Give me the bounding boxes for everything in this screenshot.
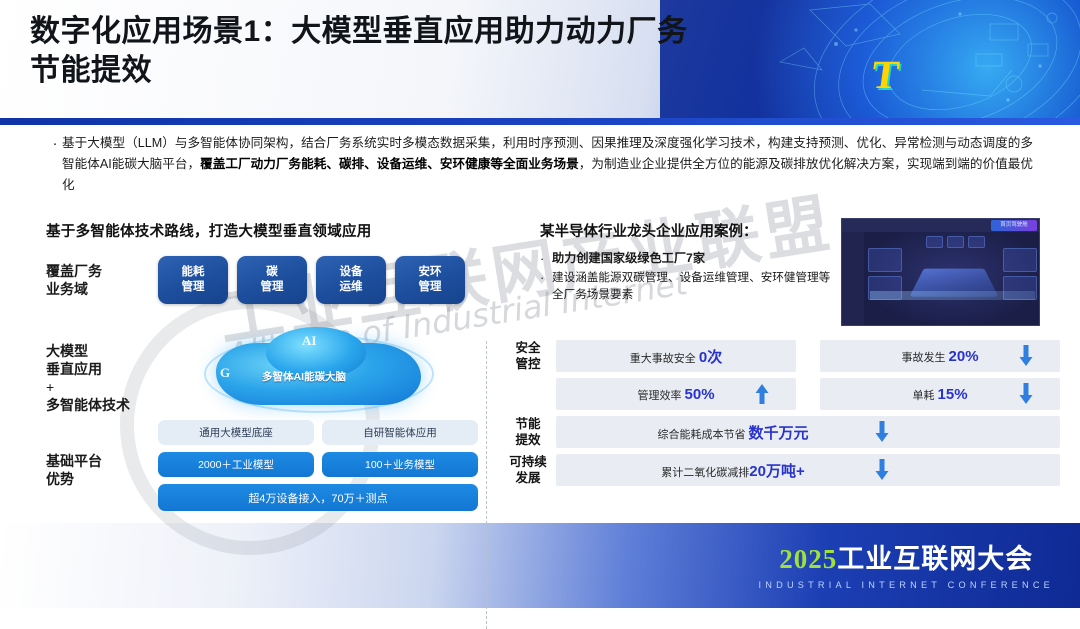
chip-carbon-management[interactable]: 碳 管理 — [237, 256, 307, 304]
brand-t-logo: T — [869, 52, 931, 98]
chip-equipment-l2: 运维 — [340, 281, 363, 293]
lead-bold-phrase: 覆盖工厂动力厂务能耗、碳排、设备运维、安环健康等全面业务场景 — [200, 157, 579, 171]
metric-caption: 管理效率 — [637, 390, 684, 402]
bar-general-llm-base[interactable]: 通用大模型底座 — [158, 420, 314, 445]
metric-cells: 重大事故安全 0次 事故发生 20% — [556, 340, 1060, 372]
metric-label-safety-l1: 安全 — [500, 340, 556, 356]
metric-row-sustainability: 可持续 发展 累计二氧化碳减排20万吨+ — [500, 454, 1060, 486]
chip-energy-management[interactable]: 能耗 管理 — [158, 256, 228, 304]
metric-text: 综合能耗成本节省 数千万元 — [657, 422, 808, 443]
ai-chip-icon: AI — [302, 333, 316, 349]
row-label-model-line2: 垂直应用 — [46, 360, 130, 378]
metric-value: 0次 — [699, 349, 722, 366]
cloud-brand-logo-icon: G — [220, 365, 230, 381]
metric-label-safety-l2: 管控 — [500, 356, 556, 372]
metric-cell-energy-cost-saving: 综合能耗成本节省 数千万元 — [556, 416, 1060, 448]
row-label-model-line4: 多智能体技术 — [46, 396, 130, 414]
metric-cells: 累计二氧化碳减排20万吨+ — [556, 454, 1060, 486]
metric-cells: 综合能耗成本节省 数千万元 — [556, 416, 1060, 448]
bar-industrial-models-count[interactable]: 2000＋工业模型 — [158, 452, 314, 477]
arrow-down-icon — [874, 421, 890, 443]
bullet-icon: · — [540, 269, 552, 303]
page-title: 数字化应用场景1：大模型垂直应用助力动力厂务节能提效 — [30, 12, 710, 90]
bar-row-1: 通用大模型底座 自研智能体应用 — [158, 420, 478, 445]
metric-row-label-energy-saving: 节能 提效 — [500, 416, 556, 448]
arrow-down-icon — [874, 459, 890, 481]
bullet-icon: · — [48, 133, 62, 196]
metric-row-label-safety: 安全 管控 — [500, 340, 556, 372]
header-tech-graphic: T — [660, 0, 1080, 118]
platform-capability-bars: 通用大模型底座 自研智能体应用 2000＋工业模型 100＋业务模型 超4万设备… — [158, 420, 478, 518]
row-label-model: 大模型 垂直应用 + 多智能体技术 — [46, 342, 130, 414]
row-label-model-plus: + — [46, 378, 130, 396]
dashboard-tab-label: 首页驾驶舱 — [991, 220, 1037, 231]
chip-carbon-l2: 管理 — [261, 281, 284, 293]
row-label-platform-line1: 基础平台 — [46, 452, 102, 470]
metric-text: 重大事故安全 0次 — [630, 346, 722, 367]
right-section-heading: 某半导体行业龙头企业应用案例： — [540, 220, 758, 241]
case-bullet-2: · 建设涵盖能源双碳管理、设备运维管理、安环健管理等全厂务场景要素 — [540, 269, 840, 303]
metric-row-energy-saving: 节能 提效 综合能耗成本节省 数千万元 — [500, 416, 1060, 448]
cloud-caption: 多智体AI能碳大脑 — [262, 369, 346, 384]
row-label-model-line1: 大模型 — [46, 342, 130, 360]
dashboard-canvas — [864, 232, 1040, 326]
dashboard-card — [968, 236, 985, 248]
slide-body: · 基于大模型（LLM）与多智能体协同架构，结合厂务系统实时多模态数据采集，利用… — [0, 125, 1080, 608]
domain-chip-group: 能耗 管理 碳 管理 设备 运维 安环 管理 — [158, 256, 478, 304]
right-panel: 某半导体行业龙头企业应用案例： · 助力创建国家级绿色工厂7家 · 建设涵盖能源… — [500, 220, 1060, 610]
case-bullet-list: · 助力创建国家级绿色工厂7家 · 建设涵盖能源双碳管理、设备运维管理、安环健管… — [540, 250, 840, 305]
metric-caption: 累计二氧化碳减排 — [661, 467, 749, 479]
metric-label-energy-l2: 提效 — [500, 432, 556, 448]
chip-energy-l1: 能耗 — [182, 266, 205, 278]
metric-row-label-sustainability: 可持续 发展 — [500, 454, 556, 486]
header-circuit-rings — [660, 0, 1080, 118]
chip-energy-l2: 管理 — [182, 281, 205, 293]
dashboard-screenshot[interactable]: 首页驾驶舱 — [841, 218, 1040, 326]
metric-cell-co2-reduction: 累计二氧化碳减排20万吨+ — [556, 454, 1060, 486]
chip-safety-l2: 管理 — [419, 281, 442, 293]
metric-cell-unit-consumption: 单耗 15% — [820, 378, 1060, 410]
arrow-down-icon — [1018, 345, 1034, 367]
metric-row-safety: 安全 管控 重大事故安全 0次 事故发生 20% — [500, 340, 1060, 372]
arrow-up-icon — [754, 383, 770, 405]
column-divider — [486, 341, 487, 629]
metric-value: 数千万元 — [749, 425, 809, 442]
metric-cell-management-efficiency: 管理效率 50% — [556, 378, 796, 410]
header-divider-rule — [0, 118, 1080, 125]
dashboard-caption-strip — [870, 291, 1035, 300]
dashboard-sidebar — [842, 232, 864, 326]
chip-carbon-l1: 碳 — [266, 266, 278, 278]
bar-row-2: 2000＋工业模型 100＋业务模型 — [158, 452, 478, 477]
chip-equipment-ops[interactable]: 设备 运维 — [316, 256, 386, 304]
bar-business-models-count[interactable]: 100＋业务模型 — [322, 452, 478, 477]
metric-caption: 重大事故安全 — [630, 353, 699, 365]
dashboard-card — [1003, 248, 1037, 272]
row-label-domains-line2: 业务域 — [46, 280, 102, 298]
case-bullet-2-text: 建设涵盖能源双碳管理、设备运维管理、安环健管理等全厂务场景要素 — [552, 269, 840, 303]
metric-text: 管理效率 50% — [637, 386, 714, 403]
metric-cell-accident-rate: 事故发生 20% — [820, 340, 1060, 372]
metric-caption: 单耗 — [912, 390, 937, 402]
case-bullet-1: · 助力创建国家级绿色工厂7家 — [540, 250, 840, 267]
chip-safety-l1: 安环 — [419, 266, 442, 278]
dashboard-card — [947, 236, 964, 248]
chip-equipment-l1: 设备 — [340, 266, 363, 278]
metric-cells: 管理效率 50% 单耗 15% — [556, 378, 1060, 410]
case-bullet-1-text: 助力创建国家级绿色工厂7家 — [552, 250, 705, 267]
arrow-down-icon — [1018, 383, 1034, 405]
metric-row-efficiency: 管理效率 50% 单耗 15% — [500, 378, 1060, 410]
metric-value: 20万吨+ — [749, 463, 804, 480]
metrics-grid: 安全 管控 重大事故安全 0次 事故发生 20% — [500, 340, 1060, 492]
metric-text: 单耗 15% — [912, 386, 967, 403]
row-label-domains: 覆盖厂务 业务域 — [46, 262, 102, 298]
metric-text: 事故发生 20% — [901, 348, 978, 365]
metric-caption: 综合能耗成本节省 — [657, 429, 748, 441]
metric-label-energy-l1: 节能 — [500, 416, 556, 432]
row-label-platform-line2: 优势 — [46, 470, 102, 488]
lead-paragraph: 基于大模型（LLM）与多智能体协同架构，结合厂务系统实时多模态数据采集，利用时序… — [62, 133, 1033, 196]
metric-cell-major-accidents: 重大事故安全 0次 — [556, 340, 796, 372]
bar-row-3: 超4万设备接入，70万＋测点 — [158, 484, 478, 511]
metric-label-sustain-l2: 发展 — [500, 470, 556, 486]
metric-caption: 事故发生 — [901, 352, 948, 364]
row-label-platform: 基础平台 优势 — [46, 452, 102, 488]
left-section-heading: 基于多智能体技术路线，打造大模型垂直领域应用 — [46, 220, 476, 241]
left-panel: 基于多智能体技术路线，打造大模型垂直领域应用 覆盖厂务 业务域 能耗 管理 碳 … — [46, 220, 476, 608]
bar-self-developed-agent-app[interactable]: 自研智能体应用 — [322, 420, 478, 445]
dashboard-card — [868, 248, 902, 272]
bar-device-connection-count[interactable]: 超4万设备接入，70万＋测点 — [158, 484, 478, 511]
chip-safety-env[interactable]: 安环 管理 — [395, 256, 465, 304]
bullet-icon: · — [540, 250, 552, 267]
dashboard-card — [926, 236, 943, 248]
ai-carbon-brain-cloud-graphic: AI G 多智体AI能碳大脑 — [204, 325, 434, 415]
cloud-brand-letter: G — [220, 365, 230, 380]
row-label-domains-line1: 覆盖厂务 — [46, 262, 102, 280]
metric-label-sustain-l1: 可持续 — [500, 454, 556, 470]
metric-value: 15% — [938, 386, 968, 403]
metric-value: 20% — [949, 348, 979, 365]
metric-value: 50% — [685, 386, 715, 403]
slide-header: T 数字化应用场景1：大模型垂直应用助力动力厂务节能提效 — [0, 0, 1080, 118]
lead-paragraph-block: · 基于大模型（LLM）与多智能体协同架构，结合厂务系统实时多模态数据采集，利用… — [48, 133, 1033, 196]
metric-text: 累计二氧化碳减排20万吨+ — [661, 460, 804, 481]
